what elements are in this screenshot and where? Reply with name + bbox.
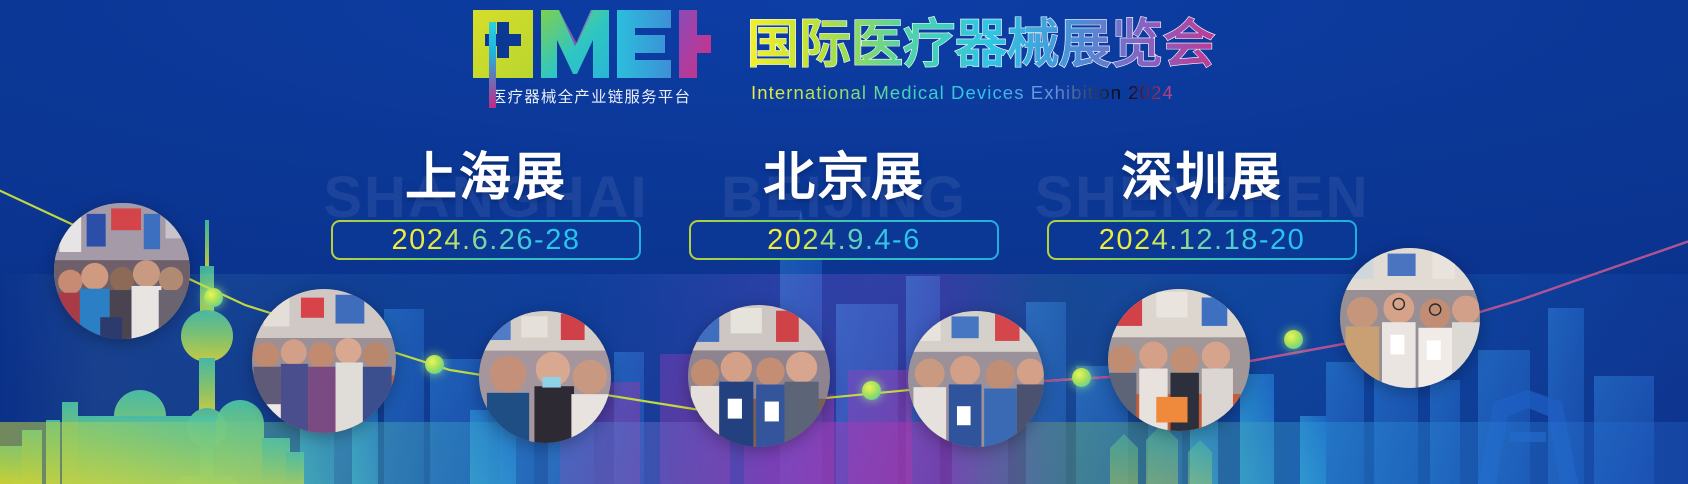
photo-content-3	[479, 311, 611, 443]
city-name-beijing: 北京展	[763, 150, 925, 206]
photo-content-4	[688, 305, 830, 447]
photo-circle-7[interactable]	[1340, 248, 1480, 388]
photo-circle-4[interactable]	[688, 305, 830, 447]
photo-content-5	[908, 311, 1044, 447]
thread-dot-5	[1284, 330, 1303, 349]
photo-content-2	[252, 289, 396, 433]
logo-divider	[489, 22, 496, 108]
city-block-shenzhen[interactable]: SHENZHEN 深圳展 2024.12.18-20	[1037, 150, 1367, 260]
cmeh-logo[interactable]: 医疗器械全产业链服务平台	[471, 8, 711, 107]
photo-content-6	[1108, 289, 1250, 431]
title-block: 国际医疗器械展览会 International Medical Devices …	[747, 8, 1217, 106]
date-pill-shenzhen[interactable]: 2024.12.18-20	[1047, 220, 1357, 260]
title-cn-svg: 国际医疗器械展览会	[747, 12, 1217, 74]
thread-dot-3	[862, 381, 881, 400]
cmeh-banner: 医疗器械全产业链服务平台 国际医疗器械展览会	[0, 0, 1688, 484]
thread-dot-2	[425, 355, 444, 374]
cmeh-logo-mark	[471, 8, 711, 80]
city-block-shanghai[interactable]: SHANGHAI 上海展 2024.6.26-28	[321, 150, 651, 260]
date-text-beijing: 2024.9.4-6	[767, 226, 921, 255]
thread-dot-4	[1072, 368, 1091, 387]
city-name-shanghai: 上海展	[405, 150, 567, 206]
photo-circle-5[interactable]	[908, 311, 1044, 447]
photo-circle-6[interactable]	[1108, 289, 1250, 431]
svg-text:International Medical Devices: International Medical Devices Exhibition…	[751, 82, 1174, 103]
banner-header: 医疗器械全产业链服务平台 国际医疗器械展览会	[0, 8, 1688, 107]
photo-content-7	[1340, 248, 1480, 388]
svg-text:国际医疗器械展览会: 国际医疗器械展览会	[747, 16, 1215, 74]
city-block-beijing[interactable]: BEIJING 北京展 2024.9.4-6	[679, 150, 1009, 260]
date-text-shanghai: 2024.6.26-28	[392, 226, 581, 255]
thread-dot-1	[204, 288, 223, 307]
date-pill-beijing[interactable]: 2024.9.4-6	[689, 220, 999, 260]
date-pill-shanghai[interactable]: 2024.6.26-28	[331, 220, 641, 260]
date-text-shenzhen: 2024.12.18-20	[1099, 226, 1306, 255]
photo-circle-2[interactable]	[252, 289, 396, 433]
city-list: SHANGHAI 上海展 2024.6.26-28 BEIJING 北京展 20…	[0, 150, 1688, 260]
city-name-shenzhen: 深圳展	[1121, 150, 1283, 206]
logo-tagline: 医疗器械全产业链服务平台	[491, 85, 691, 107]
photo-circle-3[interactable]	[479, 311, 611, 443]
title-en-svg: International Medical Devices Exhibition…	[747, 80, 1217, 106]
